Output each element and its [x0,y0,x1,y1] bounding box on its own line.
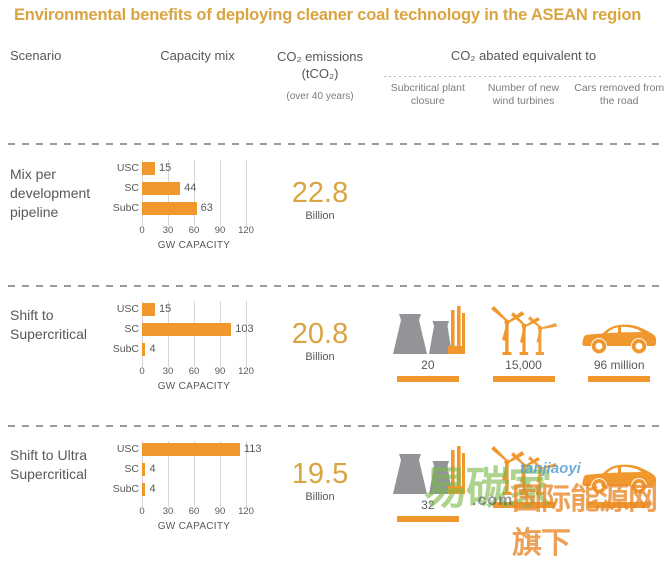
bar-row: USC15 [108,161,258,176]
sub-header-row: Subcritical plant closure Number of new … [380,82,667,108]
header-capacity-mix: Capacity mix [140,48,255,63]
chart-x-axis: 0306090120 [142,366,246,379]
bar-value-label: 113 [244,442,262,457]
header-co2-line1: CO₂ emissions [277,49,363,64]
scenario-row: Shift to Supercritical USC15SC103SubC403… [0,296,667,425]
capacity-bar-chart: USC113SC4SubC40306090120GW CAPACITY [108,442,258,538]
equivalent-value: 20 [421,358,434,372]
axis-tick-label: 30 [163,225,174,236]
bar-row: SubC4 [108,482,258,497]
capacity-bar-chart: USC15SC103SubC40306090120GW CAPACITY [108,302,258,398]
bar-fill [142,303,155,316]
axis-tick-label: 120 [238,225,254,236]
bar-track: 44 [142,181,246,196]
co2-emissions-value-block: 19.5 Billion [265,458,375,503]
bar-row: SubC4 [108,342,258,357]
row-divider-2 [8,285,659,287]
axis-title: GW CAPACITY [142,240,246,251]
axis-tick-label: 30 [163,506,174,517]
power-plant-icon [391,444,465,496]
chart-bars: USC15SC103SubC4 [108,302,258,364]
row-divider-1 [8,143,659,145]
header-co2-line2: (tCO₂) [302,66,339,81]
bar-category-label: SC [108,181,139,196]
scenario-row: Mix per development pipeline USC15SC44Su… [0,155,667,285]
equivalent-underline [588,502,650,508]
bar-track: 4 [142,482,246,497]
bar-row: SC44 [108,181,258,196]
axis-tick-label: 120 [238,506,254,517]
bar-category-label: USC [108,442,139,457]
car-icon [581,300,657,356]
bar-value-label: 4 [149,482,155,497]
bar-value-label: 44 [184,181,196,196]
axis-tick-label: 0 [139,225,144,236]
wind-turbines-icon [488,440,560,496]
header-co2-abated: CO₂ abated equivalent to [380,48,667,63]
bar-fill [142,443,240,456]
bar-value-label: 103 [235,322,253,337]
sub-header-wind-turbines: Number of new wind turbines [476,82,572,108]
chart-x-axis: 0306090120 [142,225,246,238]
infographic-page: Environmental benefits of deploying clea… [0,0,667,519]
bar-category-label: USC [108,302,139,317]
bar-row: USC15 [108,302,258,317]
page-title: Environmental benefits of deploying clea… [0,6,641,25]
sub-header-cars-removed: Cars removed from the road [571,82,667,108]
bar-fill [142,162,155,175]
equivalent-item: 20 [380,300,476,382]
bar-track: 15 [142,161,246,176]
title-bar: Environmental benefits of deploying clea… [0,0,667,30]
bar-row: SC4 [108,462,258,477]
equivalent-item: 15,000 [476,300,572,382]
co2-emissions-number: 20.8 [265,318,375,350]
bar-fill [142,463,145,476]
bar-category-label: SubC [108,201,139,216]
power-plant-icon [391,300,465,356]
bar-fill [142,343,145,356]
chart-bars: USC113SC4SubC4 [108,442,258,504]
axis-tick-label: 60 [189,366,200,377]
sub-header-subcritical-plant-closure: Subcritical plant closure [380,82,476,108]
header-co2-emissions: CO₂ emissions (tCO₂) (over 40 years) [265,48,375,105]
co2-emissions-unit: Billion [265,491,375,503]
power-plant-icon [391,440,465,496]
co2-emissions-value-block: 22.8 Billion [265,177,375,222]
wind-turbines-icon [488,300,560,356]
equivalent-item: 32 [380,440,476,522]
bar-category-label: SC [108,322,139,337]
equivalent-value: 32 [421,498,434,512]
bar-fill [142,182,180,195]
co2-emissions-unit: Billion [265,210,375,222]
axis-tick-label: 120 [238,366,254,377]
equivalent-underline [493,502,555,508]
axis-tick-label: 0 [139,506,144,517]
equivalent-item [571,440,667,522]
bar-value-label: 15 [159,161,171,176]
co2-emissions-number: 22.8 [265,177,375,209]
equivalent-underline [493,376,555,382]
row-divider-3 [8,425,659,427]
bar-row: USC113 [108,442,258,457]
chart-x-axis: 0306090120 [142,506,246,519]
axis-tick-label: 0 [139,366,144,377]
bar-track: 4 [142,342,246,357]
equivalents-group: 20 [380,300,667,382]
bar-track: 15 [142,302,246,317]
car-icon [581,322,657,356]
equivalent-value: 96 million [594,358,645,372]
header-scenario: Scenario [10,48,61,63]
equivalent-underline [588,376,650,382]
axis-tick-label: 90 [215,366,226,377]
bar-fill [142,202,197,215]
bar-fill [142,483,145,496]
bar-track: 4 [142,462,246,477]
bar-value-label: 4 [149,342,155,357]
bar-value-label: 63 [201,201,213,216]
co2-emissions-number: 19.5 [265,458,375,490]
bar-category-label: SubC [108,342,139,357]
bar-track: 113 [142,442,246,457]
capacity-bar-chart: USC15SC44SubC630306090120GW CAPACITY [108,161,258,257]
bar-value-label: 4 [149,462,155,477]
header-dotted-divider [384,76,663,77]
co2-emissions-unit: Billion [265,351,375,363]
axis-tick-label: 90 [215,506,226,517]
bar-category-label: SubC [108,482,139,497]
equivalent-value: 15,000 [505,358,542,372]
co2-emissions-value-block: 20.8 Billion [265,318,375,363]
car-icon [581,440,657,496]
wind-turbines-icon [488,302,560,356]
equivalent-underline [397,516,459,522]
axis-tick-label: 60 [189,506,200,517]
bar-category-label: SC [108,462,139,477]
bar-value-label: 15 [159,302,171,317]
chart-bars: USC15SC44SubC63 [108,161,258,223]
bar-fill [142,323,231,336]
equivalent-underline [397,376,459,382]
bar-track: 103 [142,322,246,337]
car-icon [581,462,657,496]
equivalent-item: 96 million [571,300,667,382]
axis-title: GW CAPACITY [142,521,246,532]
scenario-row: Shift to Ultra Supercritical USC113SC4Su… [0,436,667,519]
power-plant-icon [391,304,465,356]
axis-tick-label: 60 [189,225,200,236]
wind-turbines-icon [488,442,560,496]
axis-title: GW CAPACITY [142,381,246,392]
bar-row: SC103 [108,322,258,337]
equivalents-group: 32 [380,440,667,522]
header-co2-note: (over 40 years) [265,88,375,105]
bar-category-label: USC [108,161,139,176]
bar-track: 63 [142,201,246,216]
axis-tick-label: 90 [215,225,226,236]
axis-tick-label: 30 [163,366,174,377]
bar-row: SubC63 [108,201,258,216]
equivalent-item [476,440,572,522]
